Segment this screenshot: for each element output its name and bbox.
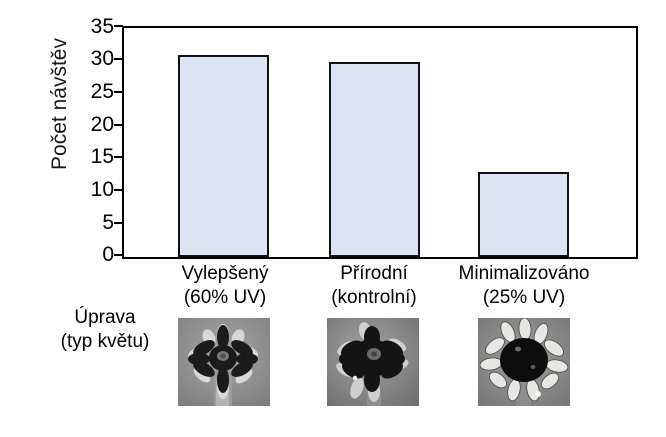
bar-vylepseny[interactable]	[178, 55, 269, 257]
bars-layer	[124, 28, 636, 257]
y-tick-label-30: 30	[80, 48, 114, 69]
bar-minimalizovano[interactable]	[478, 172, 569, 257]
y-tick-label-10: 10	[80, 179, 114, 200]
category-label-vylepseny: Vylepšený (60% UV)	[145, 262, 305, 310]
flower-photo-natural-control	[327, 318, 419, 406]
y-tick-label-15: 15	[80, 146, 114, 167]
plot-area	[122, 26, 638, 259]
bar-prirodni[interactable]	[329, 62, 420, 257]
category-label-vylepseny-line1: Vylepšený	[182, 263, 269, 284]
y-tick-label-5: 5	[80, 212, 114, 233]
category-label-minimalizovano-line1: Minimalizováno	[459, 263, 590, 284]
y-axis-tick-labels: 35 30 25 20 15 10 5 0	[72, 0, 114, 437]
category-label-prirodni-line2: (kontrolní)	[294, 286, 454, 310]
category-label-prirodni-line1: Přírodní	[340, 263, 408, 284]
flower-image-enhanced-uv	[178, 318, 270, 406]
category-label-minimalizovano: Minimalizováno (25% UV)	[444, 262, 604, 310]
x-axis-title-line2: (typ květu)	[30, 330, 180, 354]
flower-image-natural-control	[327, 318, 419, 406]
flower-image-minimized-uv	[478, 318, 570, 406]
category-label-minimalizovano-line2: (25% UV)	[444, 286, 604, 310]
category-label-prirodni: Přírodní (kontrolní)	[294, 262, 454, 310]
y-tick-label-35: 35	[80, 16, 114, 37]
y-axis-title: Počet návštěv	[48, 4, 72, 204]
flower-photo-enhanced-uv	[178, 318, 270, 406]
y-tick-label-20: 20	[80, 114, 114, 135]
bar-chart-figure: 35 30 25 20 15 10 5 0 Počet návštěv Vyle…	[0, 0, 666, 437]
x-axis-title: Úprava (typ květu)	[30, 306, 180, 354]
y-tick-label-25: 25	[80, 81, 114, 102]
flower-photo-minimized-uv	[478, 318, 570, 406]
y-tick-label-0: 0	[80, 244, 114, 265]
x-axis-title-line1: Úprava	[74, 307, 135, 328]
